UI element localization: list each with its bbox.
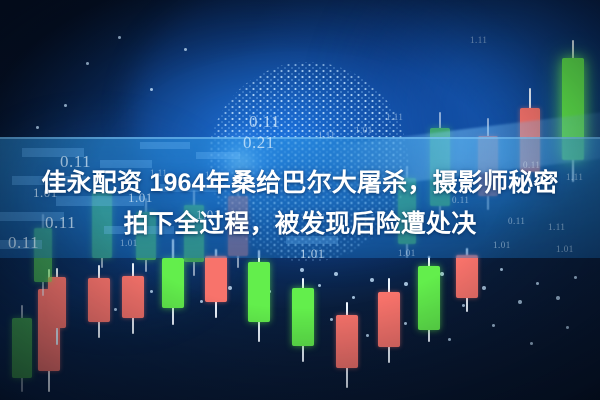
banner-image: 0.111.111.010.110.111.011.011.011.110.21… <box>0 0 600 400</box>
headline-line-1: 佳永配资 1964年桑给巴尔大屠杀，摄影师秘密 <box>0 163 600 204</box>
page-title: 佳永配资 1964年桑给巴尔大屠杀，摄影师秘密 拍下全过程，被发现后险遭处决 <box>0 163 600 245</box>
headline-line-2: 拍下全过程，被发现后险遭处决 <box>0 204 600 245</box>
